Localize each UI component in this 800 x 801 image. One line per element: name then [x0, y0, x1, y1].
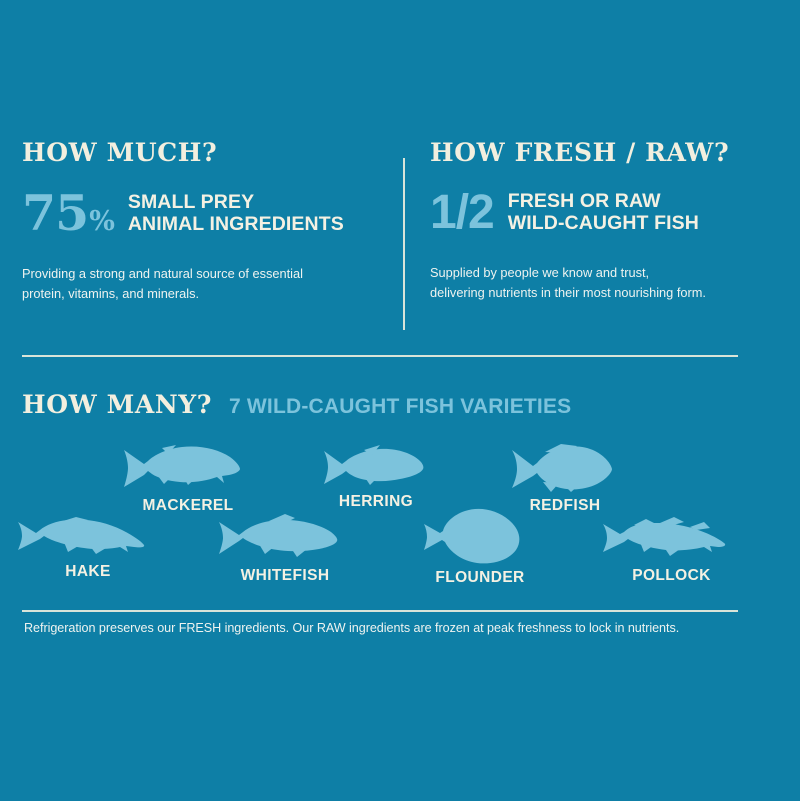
stat-body-line1: Supplied by people we know and trust, — [430, 265, 649, 280]
stat-caption-line2: WILD-CAUGHT FISH — [508, 213, 699, 235]
stat-caption-how-fresh-raw: FRESH OR RAW WILD-CAUGHT FISH — [508, 191, 699, 235]
fish-label-herring: HERRING — [320, 493, 432, 511]
fish-item-mackerel: MACKEREL — [118, 442, 258, 515]
pollock-fish-icon — [600, 514, 743, 564]
stat-body-how-fresh-raw: Supplied by people we know and trust, de… — [430, 263, 778, 302]
stats-section: HOW MUCH? 75% SMALL PREY ANIMAL INGREDIE… — [0, 140, 800, 345]
fish-item-herring: HERRING — [320, 444, 432, 511]
varieties-heading-group: HOW MANY? 7 WILD-CAUGHT FISH VARIETIES — [22, 392, 571, 419]
stat-caption-line1: FRESH OR RAW — [508, 190, 661, 212]
stat-body-line2: delivering nutrients in their most nouri… — [430, 283, 778, 302]
fish-item-redfish: REDFISH — [509, 442, 621, 515]
hake-fish-icon — [14, 514, 162, 560]
stat-line-how-fresh-raw: 1/2 FRESH OR RAW WILD-CAUGHT FISH — [430, 191, 778, 235]
fish-item-pollock: POLLOCK — [600, 514, 743, 585]
stat-number-how-much: 75% — [22, 191, 114, 236]
horizontal-rule-top — [22, 355, 738, 357]
fish-varieties-grid: MACKEREL HERRING — [0, 438, 800, 598]
footnote-text: Refrigeration preserves our FRESH ingred… — [24, 620, 764, 638]
varieties-subheading: 7 WILD-CAUGHT FISH VARIETIES — [229, 395, 571, 419]
fish-label-pollock: POLLOCK — [600, 567, 743, 585]
section-heading-how-fresh-raw: HOW FRESH / RAW? — [430, 140, 778, 165]
fish-label-mackerel: MACKEREL — [118, 497, 258, 515]
herring-fish-icon — [320, 444, 432, 490]
whitefish-fish-icon — [215, 514, 355, 564]
stat-number-how-fresh-raw: 1/2 — [430, 191, 494, 235]
mackerel-fish-icon — [118, 442, 258, 494]
stat-column-how-fresh-raw: HOW FRESH / RAW? 1/2 FRESH OR RAW WILD-C… — [430, 140, 778, 302]
fish-label-flounder: FLOUNDER — [420, 569, 540, 587]
fish-item-flounder: FLOUNDER — [420, 506, 540, 587]
stat-body-how-much: Providing a strong and natural source of… — [22, 264, 377, 303]
flounder-fish-icon — [420, 506, 540, 566]
section-heading-how-much: HOW MUCH? — [22, 140, 390, 165]
stat-body-line1: Providing a strong and natural source of… — [22, 266, 303, 281]
stat-caption-line2: ANIMAL INGREDIENTS — [128, 214, 344, 236]
redfish-fish-icon — [509, 442, 621, 494]
stat-number-value: 75 — [22, 191, 88, 236]
fish-label-whitefish: WHITEFISH — [215, 567, 355, 585]
percent-symbol: % — [89, 210, 114, 235]
stat-body-line2: protein, vitamins, and minerals. — [22, 284, 377, 303]
horizontal-rule-bottom — [22, 610, 738, 612]
stat-caption-line1: SMALL PREY — [128, 191, 254, 213]
stat-caption-how-much: SMALL PREY ANIMAL INGREDIENTS — [128, 192, 344, 236]
column-divider — [403, 158, 405, 330]
fish-label-hake: HAKE — [14, 563, 162, 581]
fish-item-hake: HAKE — [14, 514, 162, 581]
stat-line-how-much: 75% SMALL PREY ANIMAL INGREDIENTS — [22, 191, 390, 236]
section-heading-how-many: HOW MANY? — [22, 392, 212, 417]
infographic-canvas: HOW MUCH? 75% SMALL PREY ANIMAL INGREDIE… — [0, 0, 800, 801]
fish-item-whitefish: WHITEFISH — [215, 514, 355, 585]
stat-column-how-much: HOW MUCH? 75% SMALL PREY ANIMAL INGREDIE… — [22, 140, 390, 303]
